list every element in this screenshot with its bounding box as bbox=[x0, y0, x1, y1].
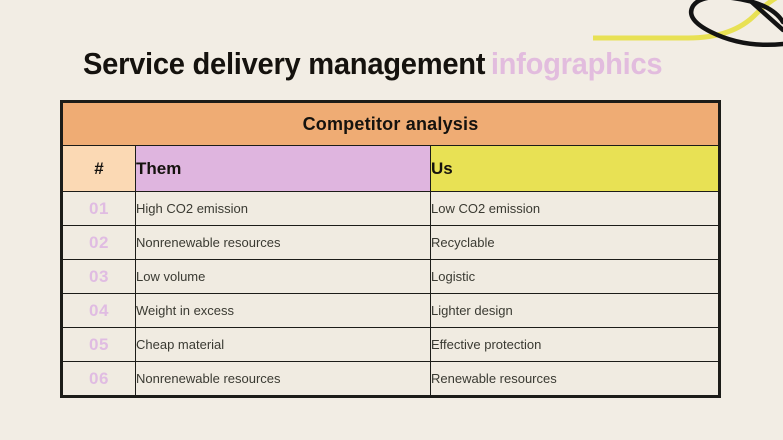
table-banner-row: Competitor analysis bbox=[63, 103, 719, 146]
black-scribble-diagonal bbox=[745, 0, 783, 30]
competitor-analysis-table: Competitor analysis # Them Us 01 High CO… bbox=[60, 100, 721, 398]
row-us-cell: Renewable resources bbox=[431, 362, 719, 396]
row-number: 03 bbox=[63, 260, 136, 294]
column-header-them: Them bbox=[136, 146, 431, 192]
row-us-cell: Lighter design bbox=[431, 294, 719, 328]
row-number: 06 bbox=[63, 362, 136, 396]
page-title-accent: infographics bbox=[491, 46, 662, 81]
column-header-us: Us bbox=[431, 146, 719, 192]
page-title: Service delivery managementinfographics bbox=[83, 46, 662, 82]
row-us-cell: Low CO2 emission bbox=[431, 192, 719, 226]
table-row: 01 High CO2 emission Low CO2 emission bbox=[63, 192, 719, 226]
table-header-row: # Them Us bbox=[63, 146, 719, 192]
row-us-cell: Effective protection bbox=[431, 328, 719, 362]
row-them-cell: Nonrenewable resources bbox=[136, 362, 431, 396]
table-row: 04 Weight in excess Lighter design bbox=[63, 294, 719, 328]
row-number: 04 bbox=[63, 294, 136, 328]
page-title-main: Service delivery management bbox=[83, 46, 485, 81]
row-number: 01 bbox=[63, 192, 136, 226]
row-them-cell: Nonrenewable resources bbox=[136, 226, 431, 260]
column-header-hash: # bbox=[63, 146, 136, 192]
row-them-cell: Weight in excess bbox=[136, 294, 431, 328]
table-row: 02 Nonrenewable resources Recyclable bbox=[63, 226, 719, 260]
row-number: 02 bbox=[63, 226, 136, 260]
table-row: 05 Cheap material Effective protection bbox=[63, 328, 719, 362]
yellow-curve-line bbox=[593, 0, 783, 38]
black-scribble-loop bbox=[691, 0, 783, 45]
table-row: 06 Nonrenewable resources Renewable reso… bbox=[63, 362, 719, 396]
row-them-cell: High CO2 emission bbox=[136, 192, 431, 226]
row-them-cell: Low volume bbox=[136, 260, 431, 294]
row-them-cell: Cheap material bbox=[136, 328, 431, 362]
row-us-cell: Recyclable bbox=[431, 226, 719, 260]
row-us-cell: Logistic bbox=[431, 260, 719, 294]
table-banner-title: Competitor analysis bbox=[63, 103, 719, 146]
table-row: 03 Low volume Logistic bbox=[63, 260, 719, 294]
row-number: 05 bbox=[63, 328, 136, 362]
